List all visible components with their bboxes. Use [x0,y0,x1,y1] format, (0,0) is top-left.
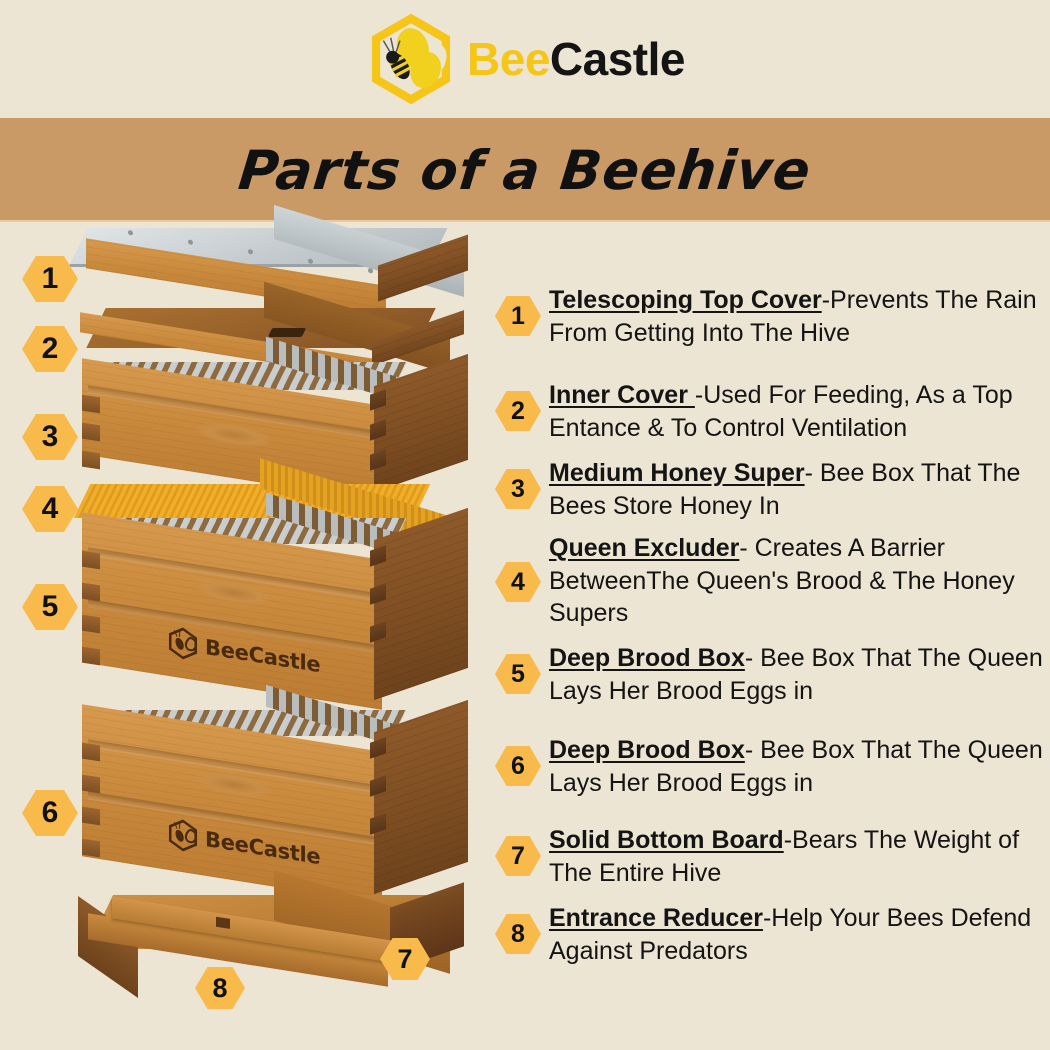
dovetail-joint [82,451,100,470]
legend-term-4: Queen Excluder [549,534,739,562]
brood-side-face [374,700,468,894]
legend-text-8: Entrance Reducer-Help Your Bees Defend A… [547,902,1043,967]
legend-badge-3: 3 [495,469,541,509]
dovetail-joint [82,807,100,826]
bee-hexagon-icon [166,624,200,663]
title-banner: Parts of a Beehive [0,118,1050,222]
legend-text-5: Deep Brood Box- Bee Box That The Queen L… [547,642,1043,707]
legend-term-7: Solid Bottom Board [549,826,784,854]
legend-text-1: Telescoping Top Cover-Prevents The Rain … [547,284,1043,349]
legend-term-6: Deep Brood Box [549,736,745,764]
legend-item-8[interactable]: 8 Entrance Reducer-Help Your Bees Defend… [495,902,1043,967]
brood-side-face [374,508,468,700]
entrance-reducer-notch [216,917,230,929]
logo: BeeCastle [365,13,685,105]
dovetail-joint [82,583,100,602]
legend-badge-2: 2 [495,391,541,431]
beehive-exploded-diagram: BeeCastle [60,222,480,1022]
legend-item-6[interactable]: 6 Deep Brood Box- Bee Box That The Queen… [495,734,1043,799]
legend-term-8: Entrance Reducer [549,904,763,932]
bee-hexagon-icon [166,816,200,855]
legend-badge-7: 7 [495,836,541,876]
legend-item-4[interactable]: 4 Queen Excluder- Creates A Barrier Betw… [495,532,1043,630]
legend-item-7[interactable]: 7 Solid Bottom Board-Bears The Weight of… [495,824,1043,889]
legend-badge-4: 4 [495,562,541,602]
dovetail-joint [82,743,100,762]
dovetail-joint [82,615,100,634]
legend-text-2: Inner Cover -Used For Feeding, As a Top … [547,379,1050,444]
legend-badge-6: 6 [495,746,541,786]
brand-header: BeeCastle [0,0,1050,118]
inner-cover-oval-hole [268,328,306,337]
legend-badge-1: 1 [495,296,541,336]
dovetail-joint [82,551,100,570]
page-title: Parts of a Beehive [236,139,814,202]
legend-item-1[interactable]: 1 Telescoping Top Cover-Prevents The Rai… [495,284,1043,349]
logo-wordmark: BeeCastle [467,36,685,82]
legend-item-3[interactable]: 3 Medium Honey Super- Bee Box That The B… [495,457,1043,522]
dovetail-joint [82,423,100,442]
logo-word-castle: Castle [550,33,685,85]
legend-badge-8: 8 [495,914,541,954]
deep-brood-box-upper-illustration: BeeCastle [74,518,474,708]
dovetail-joint [82,775,100,794]
logo-word-bee: Bee [467,33,550,85]
legend-term-2: Inner Cover [549,381,695,409]
legend-item-5[interactable]: 5 Deep Brood Box- Bee Box That The Queen… [495,642,1043,707]
legend-text-6: Deep Brood Box- Bee Box That The Queen L… [547,734,1043,799]
legend-term-5: Deep Brood Box [549,644,745,672]
dovetail-joint [82,647,100,666]
legend-badge-5: 5 [495,654,541,694]
legend-text-3: Medium Honey Super- Bee Box That The Bee… [547,457,1043,522]
legend-item-2[interactable]: 2 Inner Cover -Used For Feeding, As a To… [495,379,1050,444]
legend-term-3: Medium Honey Super [549,459,805,487]
dovetail-joint [82,839,100,858]
legend-term-1: Telescoping Top Cover [549,286,822,314]
bee-hexagon-icon [365,13,457,105]
legend-text-4: Queen Excluder- Creates A Barrier Betwee… [547,532,1043,630]
dovetail-joint [82,395,100,414]
content-area: BeeCastle [0,222,1050,1050]
legend-text-7: Solid Bottom Board-Bears The Weight of T… [547,824,1043,889]
